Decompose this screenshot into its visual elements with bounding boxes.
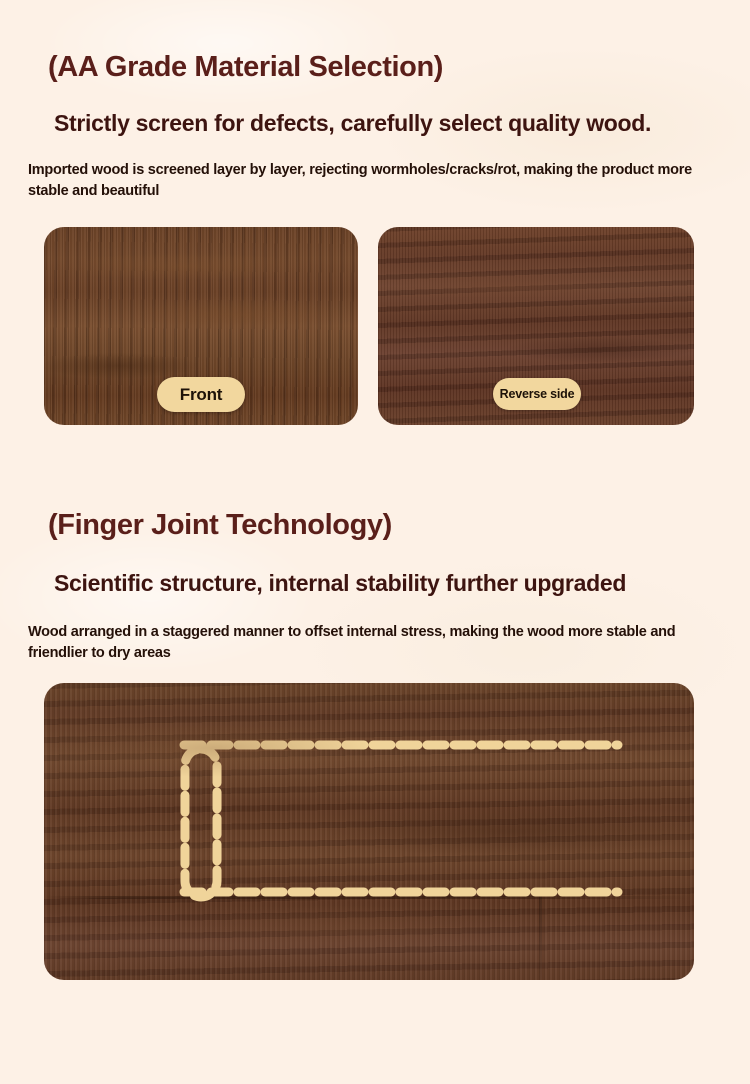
section-body-material: Imported wood is screened layer by layer…: [0, 136, 750, 201]
finger-joint-dashed-diagram: [44, 683, 694, 980]
board-seam-horizontal: [44, 896, 694, 899]
section-heading-material: (AA Grade Material Selection): [0, 0, 750, 84]
section-material-selection: (AA Grade Material Selection) Strictly s…: [0, 0, 750, 201]
wood-panel-finger-joint-wrap: [44, 683, 694, 980]
section-subheading-material: Strictly screen for defects, carefully s…: [0, 84, 750, 136]
section-subheading-finger-joint: Scientific structure, internal stability…: [0, 542, 750, 596]
wood-panel-row: Front Reverse side: [44, 227, 694, 425]
panel-label-front: Front: [157, 377, 245, 412]
dashed-finger-capsule: [185, 749, 217, 897]
board-seam-vertical: [539, 896, 542, 980]
wood-panel-front[interactable]: Front: [44, 227, 358, 425]
wood-panel-finger-joint[interactable]: [44, 683, 694, 980]
panel-label-reverse: Reverse side: [493, 378, 581, 410]
section-heading-finger-joint: (Finger Joint Technology): [0, 458, 750, 542]
section-finger-joint-technology: (Finger Joint Technology) Scientific str…: [0, 458, 750, 663]
section-body-finger-joint: Wood arranged in a staggered manner to o…: [0, 596, 750, 663]
wood-panel-reverse[interactable]: Reverse side: [378, 227, 694, 425]
